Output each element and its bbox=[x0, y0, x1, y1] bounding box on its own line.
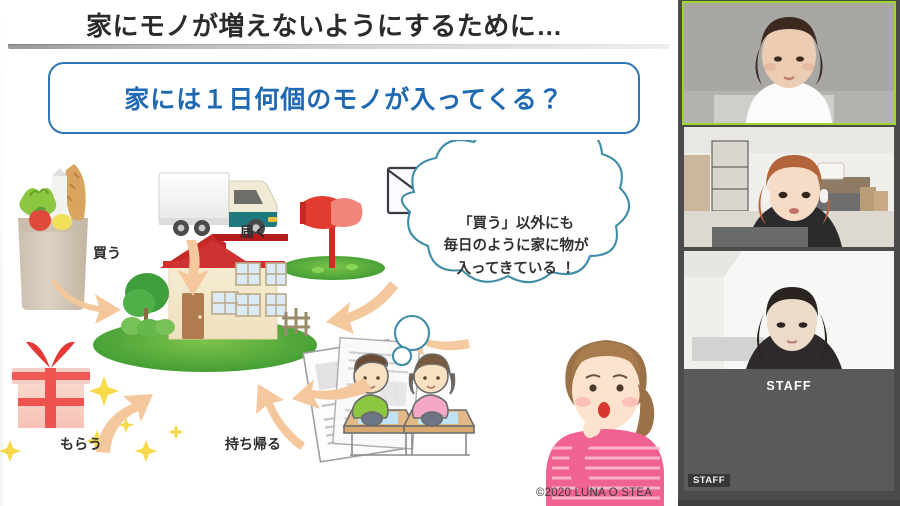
zoom-meeting-window: 家にモノが増えないようにするために… 家には１日何個のモノが入ってくる？ bbox=[0, 0, 900, 506]
slide-title-area: 家にモノが増えないようにするために… bbox=[0, 0, 678, 46]
presentation-slide: 家にモノが増えないようにするために… 家には１日何個のモノが入ってくる？ bbox=[0, 0, 678, 506]
strip-bottom-bar bbox=[678, 500, 900, 506]
woman-character-illustration bbox=[546, 340, 664, 506]
label-receive: もらう bbox=[60, 434, 102, 454]
participant-video-strip: STAFF STAFF bbox=[678, 0, 900, 506]
participant-name-badge: STAFF bbox=[688, 474, 730, 487]
page-title: 家にモノが増えないようにするために… bbox=[86, 6, 563, 43]
video-feed-2 bbox=[684, 127, 894, 247]
shared-screen-region[interactable]: 家にモノが増えないようにするために… 家には１日何個のモノが入ってくる？ bbox=[0, 0, 678, 506]
copyright-notice: ©2020 LUNA O STEA bbox=[536, 487, 652, 499]
grocery-bag-illustration bbox=[18, 164, 88, 310]
video-tile-participant-3[interactable]: STAFF STAFF bbox=[684, 251, 894, 491]
bubble-line-3: 入ってきている ！ bbox=[398, 258, 634, 280]
video-feed-3 bbox=[684, 251, 894, 491]
bubble-line-2: 毎日のように家に物が bbox=[398, 235, 634, 257]
bubble-line-1: 「買う」以外にも bbox=[398, 213, 634, 235]
label-bring-home: 持ち帰る bbox=[225, 434, 281, 454]
label-buy: 買う bbox=[93, 243, 121, 263]
video-feed-1 bbox=[684, 3, 894, 123]
staff-center-label: STAFF bbox=[684, 379, 894, 393]
video-tile-participant-2[interactable] bbox=[684, 127, 894, 247]
mailbox-illustration bbox=[281, 196, 385, 280]
house-illustration bbox=[93, 234, 317, 372]
title-divider bbox=[8, 45, 670, 49]
thought-bubble-text: 「買う」以外にも 毎日のように家に物が 入ってきている ！ bbox=[398, 213, 634, 280]
label-delivered: 届く bbox=[240, 222, 268, 242]
illustration-area: 買う 届く もらう 持ち帰る 「買う」以外にも 毎日のように家に物が 入ってきて… bbox=[0, 140, 678, 506]
question-box: 家には１日何個のモノが入ってくる？ bbox=[48, 62, 640, 134]
video-tile-participant-1[interactable] bbox=[684, 3, 894, 123]
question-text: 家には１日何個のモノが入ってくる？ bbox=[124, 80, 564, 116]
